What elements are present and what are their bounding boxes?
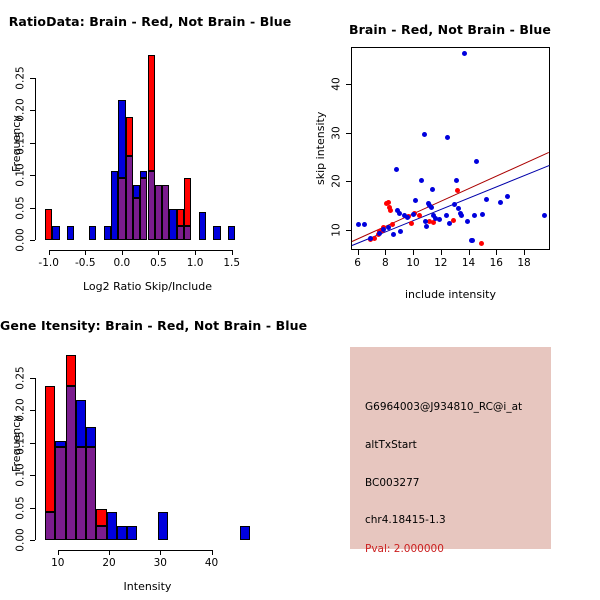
scatter-point <box>419 178 424 183</box>
scatter-title: Brain - Red, Not Brain - Blue <box>300 22 600 37</box>
x-axis-tick <box>469 250 470 255</box>
y-axis-tick <box>346 133 351 134</box>
scatter-point <box>542 213 547 218</box>
y-axis-tick <box>30 475 35 476</box>
scatter-point <box>484 197 489 202</box>
y-axis-tick <box>30 110 35 111</box>
histogram-bar <box>199 212 206 240</box>
x-axis-tick-label: 10 <box>406 258 419 269</box>
panel-gene-histogram: Gene Itensity: Brain - Red, Not Brain - … <box>0 300 300 600</box>
gene-id-text: G6964003@J934810_RC@i_at <box>365 401 522 413</box>
histogram-bar <box>118 100 125 179</box>
histogram-bar <box>133 185 140 199</box>
y-axis-tick <box>346 230 351 231</box>
y-axis-tick-label: 0.05 <box>16 196 27 219</box>
x-axis-tick <box>358 250 359 255</box>
ratio-histogram-xlabel: Log2 Ratio Skip/Include <box>45 280 250 293</box>
histogram-bar <box>148 55 155 171</box>
ratio-histogram-plot-area <box>45 55 250 240</box>
histogram-bar <box>104 226 111 240</box>
event-type-text: altTxStart <box>365 439 417 451</box>
scatter-point <box>465 219 470 224</box>
scatter-point <box>397 211 402 216</box>
histogram-bar <box>228 226 235 240</box>
scatter-point <box>411 212 416 217</box>
y-axis-tick-label: 0.15 <box>16 431 27 454</box>
gene-histogram-title: Gene Itensity: Brain - Red, Not Brain - … <box>0 318 300 333</box>
histogram-bar-overlap <box>76 447 86 540</box>
histogram-bar <box>52 226 59 240</box>
scatter-point <box>391 232 396 237</box>
x-axis-tick <box>441 250 442 255</box>
scatter-point <box>445 135 450 140</box>
histogram-bar <box>45 386 55 513</box>
y-axis-tick <box>30 443 35 444</box>
histogram-bar-overlap <box>162 185 169 240</box>
x-axis-line <box>49 250 232 251</box>
y-axis-line <box>35 378 36 540</box>
y-axis-tick-label: 20 <box>332 175 343 188</box>
y-axis-tick-label: 0.05 <box>16 496 27 519</box>
scatter-point <box>505 194 510 199</box>
scatter-point <box>422 132 427 137</box>
histogram-bar-overlap <box>177 226 184 240</box>
x-axis-tick-label: 20 <box>102 558 115 569</box>
histogram-bar <box>117 526 127 540</box>
y-axis-tick-label: 0.10 <box>16 163 27 186</box>
histogram-bar-overlap <box>133 198 140 240</box>
histogram-bar-overlap <box>126 156 133 240</box>
histogram-bar <box>213 226 220 240</box>
scatter-point <box>498 200 503 205</box>
x-axis-tick-label: 1.5 <box>223 258 240 269</box>
scatter-point <box>470 238 475 243</box>
y-axis-tick-label: 0.00 <box>16 528 27 551</box>
scatter-point <box>454 178 459 183</box>
scatter-point <box>456 206 461 211</box>
histogram-bar <box>127 526 137 540</box>
scatter-point <box>388 208 393 213</box>
y-axis-tick <box>30 378 35 379</box>
histogram-bar-overlap <box>155 185 162 240</box>
histogram-bar <box>96 509 106 527</box>
x-axis-tick <box>160 550 161 555</box>
scatter-point <box>444 213 449 218</box>
y-axis-tick <box>30 78 35 79</box>
x-axis-tick <box>158 250 159 255</box>
y-axis-tick <box>30 240 35 241</box>
scatter-point <box>405 215 410 220</box>
y-axis-tick-label: 0.25 <box>16 366 27 389</box>
x-axis-tick-label: 6 <box>354 258 361 269</box>
x-axis-tick <box>413 250 414 255</box>
histogram-bar <box>107 512 117 540</box>
panel-scatter: Brain - Red, Not Brain - Blue skip inten… <box>300 0 600 300</box>
x-axis-tick-label: 0.5 <box>150 258 167 269</box>
scatter-point <box>474 159 479 164</box>
scatter-point <box>356 222 361 227</box>
y-axis-tick-label: 10 <box>332 223 343 236</box>
histogram-bar <box>184 178 191 226</box>
accession-text: BC003277 <box>365 477 419 489</box>
scatter-point <box>424 224 429 229</box>
histogram-bar <box>240 526 250 540</box>
y-axis-tick <box>30 410 35 411</box>
panel-gene-info: G6964003@J934810_RC@i_at altTxStart BC00… <box>300 300 600 600</box>
scatter-point <box>437 217 442 222</box>
x-axis-tick <box>85 250 86 255</box>
gene-info-box: G6964003@J934810_RC@i_at altTxStart BC00… <box>350 347 551 549</box>
scatter-point <box>447 221 452 226</box>
x-axis-tick-label: 18 <box>517 258 530 269</box>
histogram-bar-overlap <box>66 386 76 540</box>
pval-text: Pval: 2.000000 <box>365 543 444 555</box>
scatter-point <box>398 229 403 234</box>
x-axis-tick-label: 10 <box>51 558 64 569</box>
histogram-bar-overlap <box>148 171 155 240</box>
histogram-bar <box>67 226 74 240</box>
scatter-point <box>386 225 391 230</box>
y-axis-tick <box>30 208 35 209</box>
histogram-bar-overlap <box>86 447 96 540</box>
y-axis-tick-label: 0.00 <box>16 228 27 251</box>
x-axis-line <box>58 550 212 551</box>
scatter-point <box>413 198 418 203</box>
x-axis-tick-label: 30 <box>154 558 167 569</box>
scatter-point <box>409 221 414 226</box>
histogram-bar-overlap <box>96 526 106 540</box>
y-axis-tick-label: 0.20 <box>16 398 27 421</box>
histogram-bar <box>111 171 118 240</box>
gene-histogram-xlabel: Intensity <box>45 580 250 593</box>
x-axis-tick-label: 8 <box>382 258 389 269</box>
scatter-point <box>479 241 484 246</box>
histogram-bar-overlap <box>140 178 147 240</box>
x-axis-tick <box>496 250 497 255</box>
histogram-bar <box>140 171 147 179</box>
histogram-bar <box>76 400 86 447</box>
scatter-point <box>430 187 435 192</box>
x-axis-tick-label: 14 <box>462 258 475 269</box>
histogram-bar <box>86 427 96 447</box>
x-axis-tick <box>122 250 123 255</box>
histogram-bar-overlap <box>55 447 65 540</box>
scatter-point <box>377 231 382 236</box>
histogram-bar <box>66 355 76 386</box>
y-axis-tick <box>30 143 35 144</box>
scatter-point <box>462 51 467 56</box>
scatter-point <box>362 222 367 227</box>
histogram-bar-overlap <box>118 178 125 240</box>
histogram-bar <box>45 209 52 240</box>
locus-text: chr4.18415-1.3 <box>365 514 446 526</box>
ratio-histogram-title: RatioData: Brain - Red, Not Brain - Blue <box>0 14 300 29</box>
x-axis-tick-label: 1.0 <box>187 258 204 269</box>
gene-histogram-plot-area <box>45 355 250 540</box>
y-axis-tick-label: 30 <box>332 126 343 139</box>
y-axis-tick-label: 0.25 <box>16 66 27 89</box>
x-axis-tick <box>212 550 213 555</box>
y-axis-tick <box>346 181 351 182</box>
y-axis-line <box>35 78 36 240</box>
x-axis-tick-label: 0.0 <box>114 258 131 269</box>
y-axis-tick <box>346 84 351 85</box>
x-axis-tick-label: -0.5 <box>75 258 96 269</box>
x-axis-tick <box>385 250 386 255</box>
histogram-bar-overlap <box>45 512 55 540</box>
histogram-bar <box>177 209 184 227</box>
scatter-point <box>431 220 436 225</box>
x-axis-tick-label: 12 <box>434 258 447 269</box>
x-axis-tick <box>524 250 525 255</box>
x-axis-tick-label: -1.0 <box>38 258 59 269</box>
scatter-point <box>480 212 485 217</box>
y-axis-tick-label: 0.20 <box>16 98 27 121</box>
histogram-bar <box>126 117 133 156</box>
y-axis-tick <box>30 175 35 176</box>
y-axis-tick-label: 0.15 <box>16 131 27 154</box>
scatter-plot-area <box>352 48 549 249</box>
histogram-bar <box>158 512 168 540</box>
scatter-point <box>394 167 399 172</box>
y-axis-tick <box>30 540 35 541</box>
x-axis-tick-label: 16 <box>490 258 503 269</box>
scatter-point <box>472 213 477 218</box>
x-axis-tick <box>49 250 50 255</box>
x-axis-tick <box>232 250 233 255</box>
scatter-ylabel: skip intensity <box>314 112 327 185</box>
scatter-point <box>429 205 434 210</box>
y-axis-tick-label: 0.10 <box>16 463 27 486</box>
scatter-point <box>368 236 373 241</box>
x-axis-tick <box>195 250 196 255</box>
histogram-bar-overlap <box>184 226 191 240</box>
y-axis-tick <box>30 508 35 509</box>
y-axis-tick-label: 40 <box>332 78 343 91</box>
histogram-bar <box>89 226 96 240</box>
x-axis-tick <box>109 550 110 555</box>
x-axis-tick <box>58 550 59 555</box>
histogram-bar <box>169 209 176 240</box>
scatter-point <box>455 188 460 193</box>
panel-ratio-histogram: RatioData: Brain - Red, Not Brain - Blue… <box>0 0 300 300</box>
scatter-point <box>459 213 464 218</box>
x-axis-tick-label: 40 <box>205 558 218 569</box>
